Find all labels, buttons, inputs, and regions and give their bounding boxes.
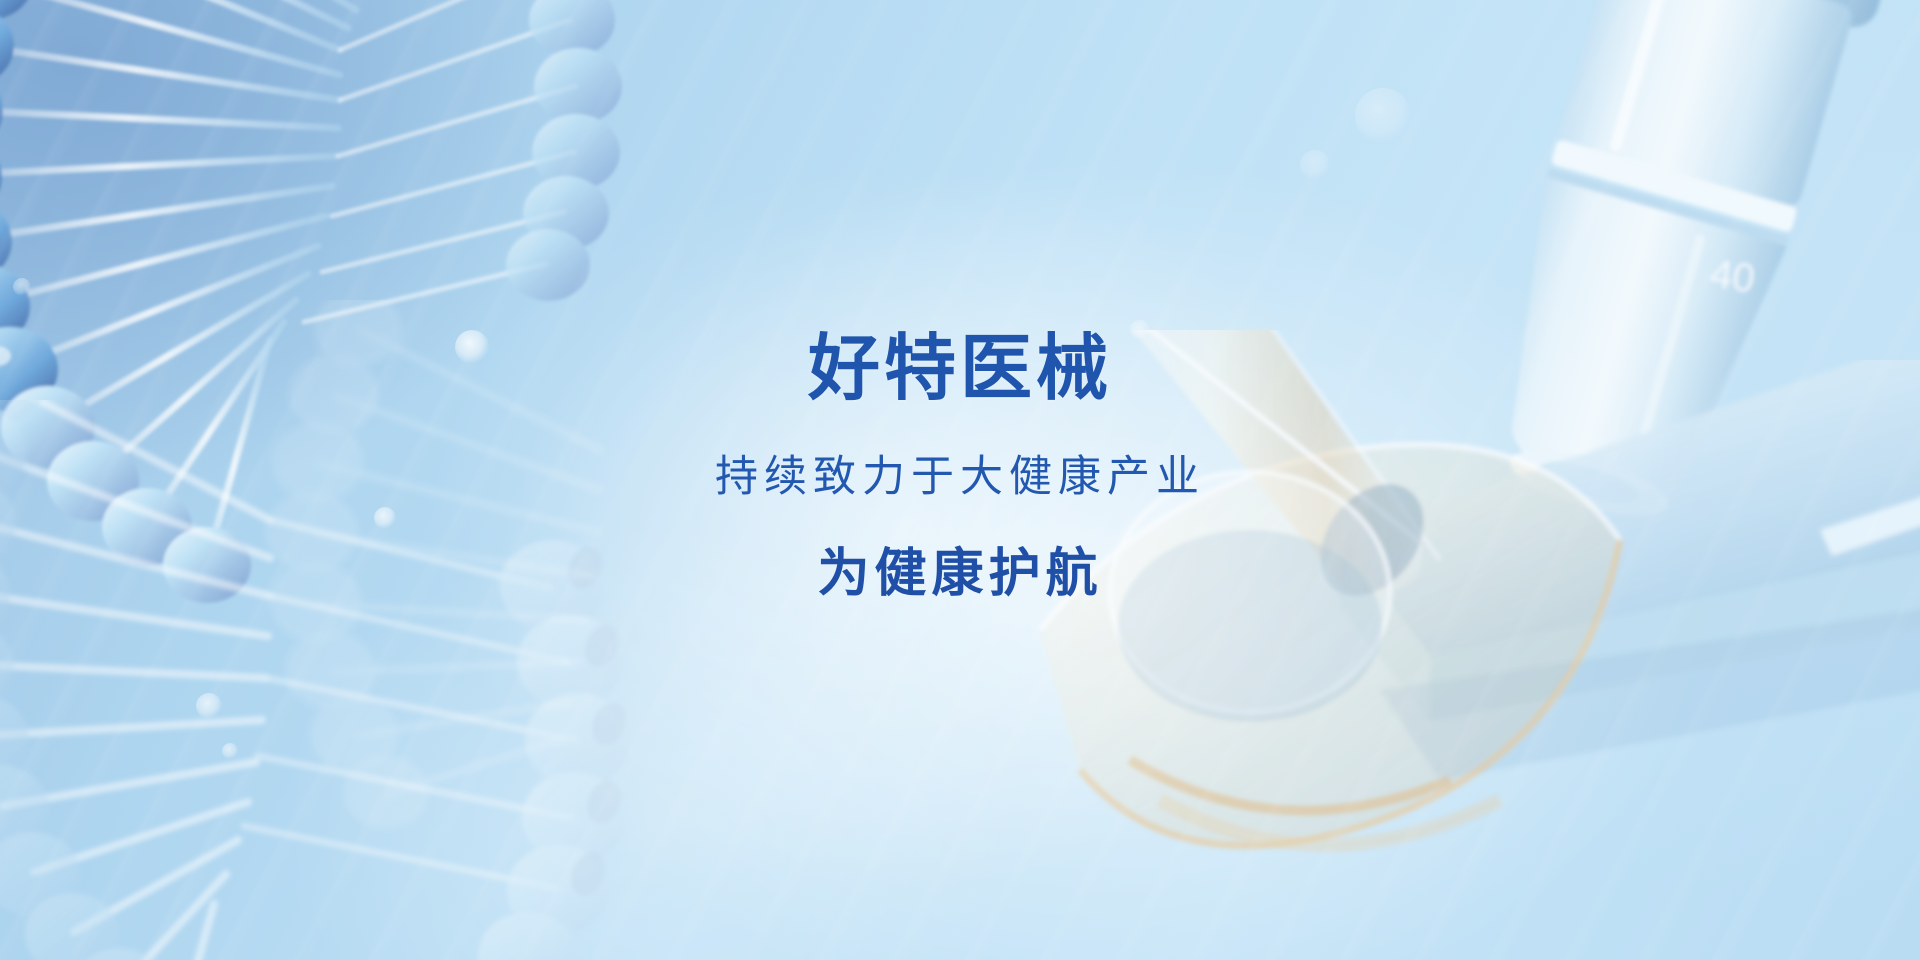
page-title: 好特医械 — [0, 332, 1920, 404]
bokeh-particle — [222, 743, 238, 759]
page-subtitle: 持续致力于大健康产业 — [0, 456, 1920, 499]
bokeh-particle — [1300, 150, 1330, 180]
bokeh-particle — [1130, 320, 1150, 340]
dna-helix-faint-icon — [170, 300, 950, 960]
bokeh-particle — [455, 330, 489, 364]
headline-block: 好特医械 持续致力于大健康产业 为健康护航 — [0, 332, 1920, 600]
haze-overlay — [0, 0, 1920, 960]
dna-helix-background-icon — [0, 0, 630, 680]
bokeh-particle — [374, 507, 396, 529]
bokeh-particle — [196, 693, 222, 719]
light-streaks-overlay — [0, 0, 1920, 960]
bokeh-particle — [1355, 88, 1411, 144]
microscope-stage-icon — [1220, 360, 1920, 920]
bokeh-particle — [13, 278, 31, 296]
page-tagline: 为健康护航 — [0, 548, 1920, 600]
microscope-objective-icon: 40 — [1340, 0, 1920, 610]
lab-glassware-icon — [1020, 330, 1640, 890]
dna-helix-foreground-icon — [0, 400, 840, 960]
hero-banner: 40 — [0, 0, 1920, 960]
svg-text:40: 40 — [1707, 252, 1757, 302]
